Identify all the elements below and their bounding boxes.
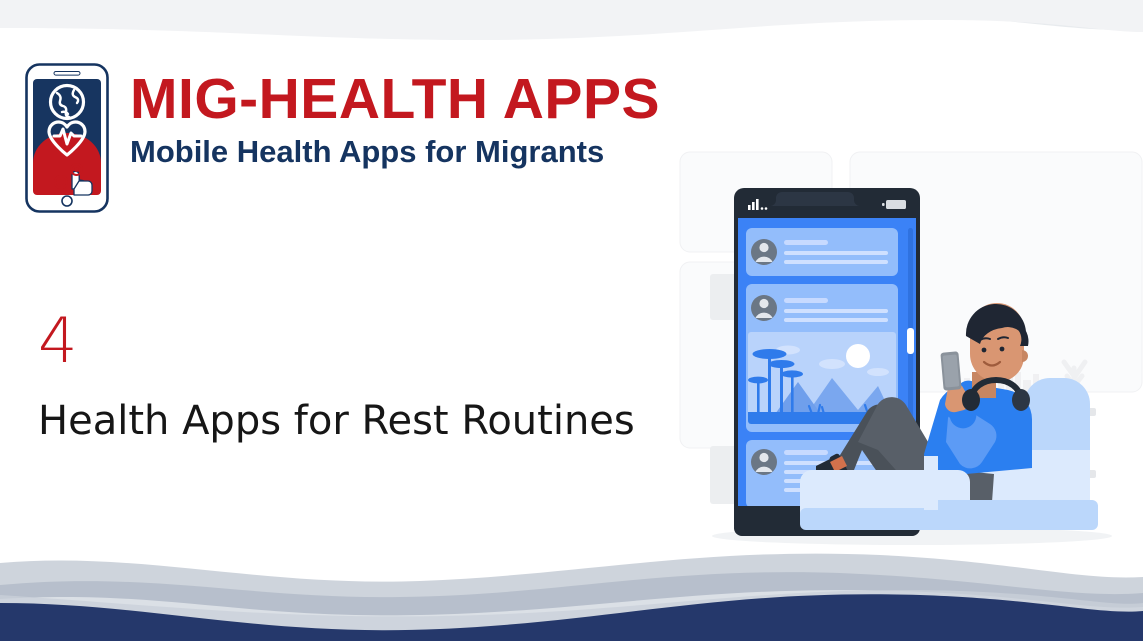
bottom-wave-decoration xyxy=(0,541,1143,641)
man-relaxing-with-phone-illustration xyxy=(672,150,1143,550)
section-title: Health Apps for Rest Routines xyxy=(38,398,635,444)
slide-canvas: MIG-HEALTH APPS Mobile Health Apps for M… xyxy=(0,0,1143,641)
section-number: 4 xyxy=(38,310,77,372)
brand-subtitle: Mobile Health Apps for Migrants xyxy=(130,133,660,172)
feed-card xyxy=(746,228,898,276)
brand-logo-block: MIG-HEALTH APPS Mobile Health Apps for M… xyxy=(24,62,660,214)
mig-health-apps-logo-icon xyxy=(24,62,110,214)
brand-title: MIG-HEALTH APPS xyxy=(130,70,660,129)
brand-text: MIG-HEALTH APPS Mobile Health Apps for M… xyxy=(130,70,660,172)
phone-status-bar xyxy=(738,192,916,218)
top-wave-decoration xyxy=(0,0,1143,40)
